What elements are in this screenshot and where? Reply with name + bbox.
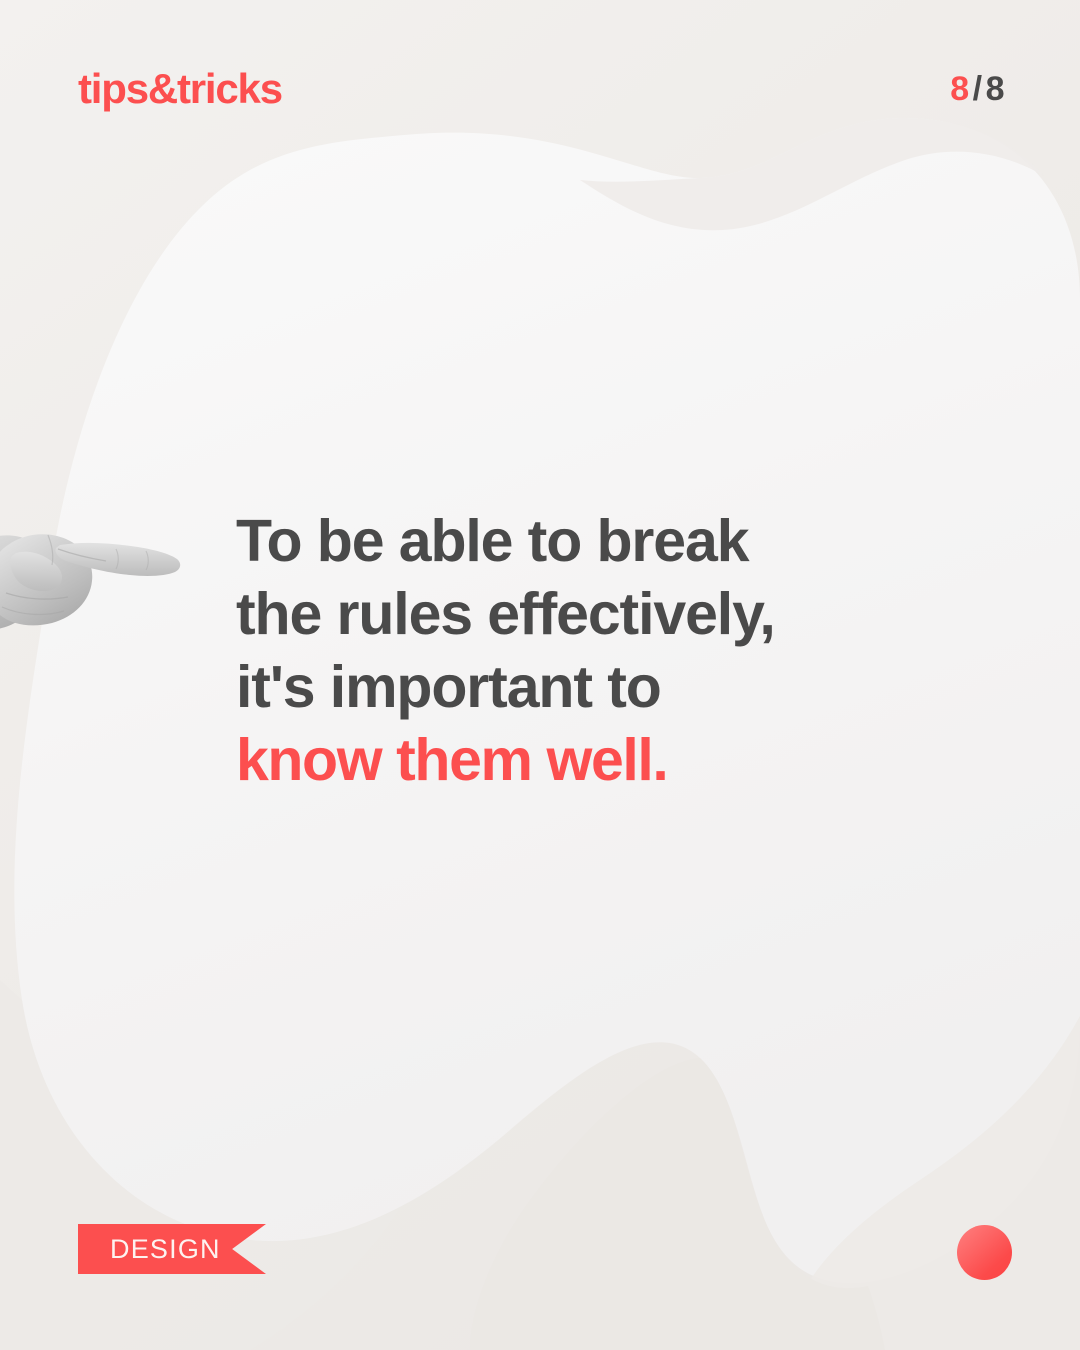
headline: To be able to break the rules effectivel… (236, 505, 876, 797)
pointing-hand-icon (0, 505, 203, 630)
headline-line-1: To be able to break (236, 505, 876, 578)
page-counter-separator: / (970, 70, 986, 108)
brand-logo: tips&tricks (78, 68, 282, 110)
headline-line-2: the rules effectively, (236, 578, 876, 651)
page-counter-total: 8 (986, 70, 1005, 108)
slide-canvas: tips&tricks 8/8 (0, 0, 1080, 1350)
page-counter-current: 8 (950, 70, 969, 108)
headline-line-3: it's important to (236, 651, 876, 724)
headline-line-4: know them well. (236, 724, 876, 797)
category-badge-label: DESIGN (78, 1236, 221, 1263)
footer-dot-icon (957, 1225, 1012, 1280)
page-counter: 8/8 (950, 72, 1005, 106)
